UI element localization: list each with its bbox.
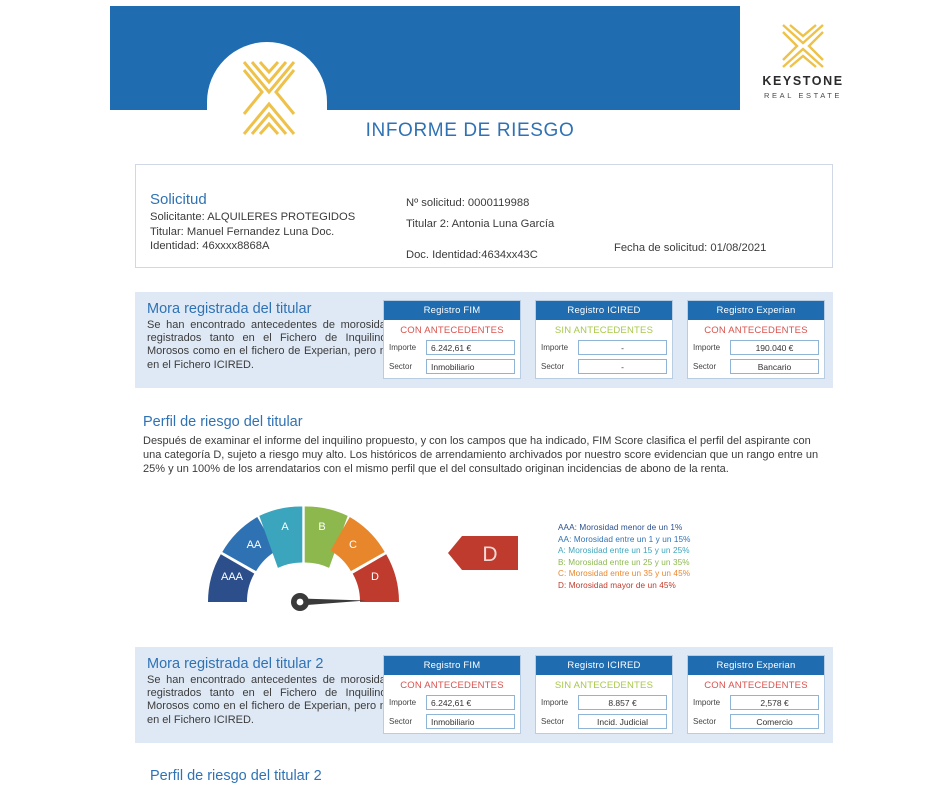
registro-card-title: Registro Experian	[688, 656, 824, 675]
perfil-titular-1-section: Perfil de riesgo del titular Después de …	[135, 414, 835, 476]
gauge-label-c: C	[349, 539, 357, 551]
registro-card-fim: Registro FIM CON ANTECEDENTES Importe 6.…	[383, 655, 521, 734]
risk-gauge-chart: AAA AA A B C D	[196, 498, 411, 613]
sector-row: Sector Inmobiliario	[384, 714, 520, 733]
legend-item-c: C: Morosidad entre un 35 y un 45%	[558, 568, 778, 580]
importe-row: Importe 6.242,61 €	[384, 695, 520, 714]
legend-item-aa: AA: Morosidad entre un 1 y un 15%	[558, 534, 778, 546]
brand-logo-icon	[780, 22, 826, 70]
sector-row: Sector Incid. Judicial	[536, 714, 672, 733]
status-badge: CON ANTECEDENTES	[688, 675, 824, 695]
sector-label: Sector	[389, 362, 426, 371]
importe-row: Importe 8.857 €	[536, 695, 672, 714]
registro-card-title: Registro Experian	[688, 301, 824, 320]
risk-legend: AAA: Morosidad menor de un 1% AA: Morosi…	[558, 522, 778, 592]
legend-item-b: B: Morosidad entre un 25 y un 35%	[558, 557, 778, 569]
solicitud-box: Solicitud Solicitante: ALQUILERES PROTEG…	[135, 164, 833, 268]
status-badge: CON ANTECEDENTES	[688, 320, 824, 340]
solicitud-titular: Titular: Manuel Fernandez Luna Doc.	[150, 225, 370, 240]
registro-card-title: Registro FIM	[384, 656, 520, 675]
registro-card-fim: Registro FIM CON ANTECEDENTES Importe 6.…	[383, 300, 521, 379]
solicitud-titular-2: Titular 2: Antonia Luna García	[406, 214, 616, 235]
gauge-label-a: A	[281, 521, 289, 533]
sector-row: Sector -	[536, 359, 672, 378]
solicitud-solicitante: Solicitante: ALQUILERES PROTEGIDOS	[150, 210, 370, 225]
importe-value: 6.242,61 €	[426, 340, 515, 355]
registro-card-title: Registro ICIRED	[536, 301, 672, 320]
registro-card-experian: Registro Experian CON ANTECEDENTES Impor…	[687, 300, 825, 379]
mora-1-paragraph: Se han encontrado antecedentes de morosi…	[147, 319, 392, 372]
importe-row: Importe 6.242,61 €	[384, 340, 520, 359]
importe-label: Importe	[389, 698, 426, 707]
mora-1-text-block: Mora registrada del titular Se han encon…	[147, 300, 392, 372]
perfil-2-heading: Perfil de riesgo del titular 2	[150, 768, 322, 784]
importe-value: 190.040 €	[730, 340, 819, 355]
status-badge: SIN ANTECEDENTES	[536, 320, 672, 340]
registro-card-title: Registro FIM	[384, 301, 520, 320]
sector-label: Sector	[693, 362, 730, 371]
registro-card-title: Registro ICIRED	[536, 656, 672, 675]
importe-label: Importe	[693, 343, 730, 352]
solicitud-fecha: Fecha de solicitud: 01/08/2021	[614, 241, 766, 256]
header-blue-band	[110, 6, 740, 110]
gauge-needle	[291, 593, 366, 611]
risk-result-badge: D	[448, 536, 518, 570]
importe-label: Importe	[693, 698, 730, 707]
solicitud-column-2: Nº solicitud: 0000119988 Titular 2: Anto…	[406, 193, 616, 266]
mora-2-paragraph: Se han encontrado antecedentes de morosi…	[147, 674, 392, 727]
registro-card-experian: Registro Experian CON ANTECEDENTES Impor…	[687, 655, 825, 734]
sector-label: Sector	[541, 362, 578, 371]
brand-subtitle: REAL ESTATE	[748, 91, 858, 100]
importe-row: Importe -	[536, 340, 672, 359]
importe-value: -	[578, 340, 667, 355]
risk-result-letter: D	[482, 543, 497, 566]
sector-label: Sector	[541, 717, 578, 726]
solicitud-column-3: Fecha de solicitud: 01/08/2021	[614, 241, 766, 256]
sector-row: Sector Bancario	[688, 359, 824, 378]
sector-row: Sector Inmobiliario	[384, 359, 520, 378]
sector-label: Sector	[693, 717, 730, 726]
sector-value: Bancario	[730, 359, 819, 374]
sector-value: Inmobiliario	[426, 359, 515, 374]
brand-name: KEYSTONE	[748, 75, 858, 88]
importe-value: 8.857 €	[578, 695, 667, 710]
solicitud-column-1: Solicitud Solicitante: ALQUILERES PROTEG…	[150, 191, 370, 254]
registro-card-icired: Registro ICIRED SIN ANTECEDENTES Importe…	[535, 300, 673, 379]
sector-value: Comercio	[730, 714, 819, 729]
gauge-label-b: B	[318, 521, 325, 533]
sector-value: Inmobiliario	[426, 714, 515, 729]
importe-label: Importe	[541, 343, 578, 352]
mora-titular-1-panel: Mora registrada del titular Se han encon…	[135, 292, 833, 388]
solicitud-identidad: Identidad: 46xxxx8868A	[150, 239, 370, 254]
legend-item-aaa: AAA: Morosidad menor de un 1%	[558, 522, 778, 534]
perfil-1-paragraph: Después de examinar el informe del inqui…	[143, 434, 831, 476]
mora-2-heading: Mora registrada del titular 2	[147, 655, 392, 673]
importe-value: 6.242,61 €	[426, 695, 515, 710]
importe-row: Importe 2,578 €	[688, 695, 824, 714]
importe-label: Importe	[389, 343, 426, 352]
solicitud-doc-identidad-2: Doc. Identidad:4634xx43C	[406, 245, 616, 266]
status-badge: SIN ANTECEDENTES	[536, 675, 672, 695]
gauge-label-aa: AA	[247, 539, 262, 551]
solicitud-numero: Nº solicitud: 0000119988	[406, 193, 616, 214]
risk-report-page: KEYSTONE REAL ESTATE INFORME DE RIESGO S…	[0, 0, 940, 788]
solicitud-heading: Solicitud	[150, 191, 370, 208]
gauge-segments	[208, 506, 399, 602]
sector-label: Sector	[389, 717, 426, 726]
status-badge: CON ANTECEDENTES	[384, 675, 520, 695]
gauge-label-aaa: AAA	[221, 571, 244, 583]
perfil-1-heading: Perfil de riesgo del titular	[143, 414, 835, 430]
registro-card-icired: Registro ICIRED SIN ANTECEDENTES Importe…	[535, 655, 673, 734]
sector-value: -	[578, 359, 667, 374]
legend-item-d: D: Morosidad mayor de un 45%	[558, 580, 778, 592]
legend-item-a: A: Morosidad entre un 15 y un 25%	[558, 545, 778, 557]
importe-row: Importe 190.040 €	[688, 340, 824, 359]
brand-block: KEYSTONE REAL ESTATE	[748, 22, 858, 100]
mora-titular-2-panel: Mora registrada del titular 2 Se han enc…	[135, 647, 833, 743]
sector-value: Incid. Judicial	[578, 714, 667, 729]
sector-row: Sector Comercio	[688, 714, 824, 733]
importe-label: Importe	[541, 698, 578, 707]
status-badge: CON ANTECEDENTES	[384, 320, 520, 340]
importe-value: 2,578 €	[730, 695, 819, 710]
mora-2-text-block: Mora registrada del titular 2 Se han enc…	[147, 655, 392, 727]
page-title: INFORME DE RIESGO	[0, 120, 940, 142]
mora-1-heading: Mora registrada del titular	[147, 300, 392, 318]
gauge-label-d: D	[371, 571, 379, 583]
